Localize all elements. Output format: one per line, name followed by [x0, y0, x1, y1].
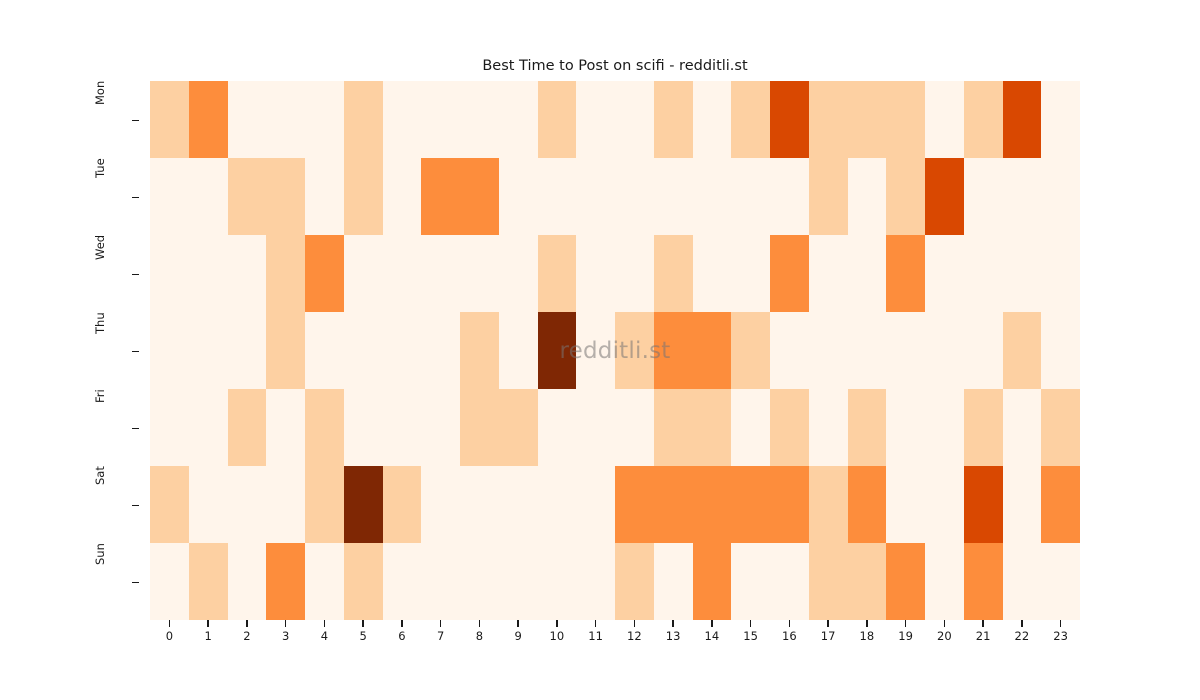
y-tick-mark — [132, 351, 139, 352]
x-tick-label: 2 — [228, 629, 267, 643]
x-tick-mark — [827, 620, 828, 627]
heatmap-cell[interactable] — [925, 389, 964, 466]
heatmap-cell[interactable] — [1003, 158, 1042, 235]
x-tick-label: 1 — [189, 629, 228, 643]
heatmap-cell[interactable] — [770, 543, 809, 620]
x-tick-label: 21 — [964, 629, 1003, 643]
heatmap-cell[interactable] — [964, 389, 1003, 466]
x-tick-mark — [207, 620, 208, 627]
heatmap-cell[interactable] — [228, 158, 267, 235]
heatmap-cell[interactable] — [499, 81, 538, 158]
heatmap-cell[interactable] — [770, 312, 809, 389]
heatmap-cell[interactable] — [1003, 81, 1042, 158]
heatmap-cell[interactable] — [150, 389, 189, 466]
x-tick-label: 6 — [383, 629, 422, 643]
heatmap-cell[interactable] — [731, 543, 770, 620]
heatmap-cell[interactable] — [344, 389, 383, 466]
heatmap-cell[interactable] — [1003, 235, 1042, 312]
heatmap-cell[interactable] — [615, 235, 654, 312]
x-tick-10: 10 — [538, 620, 577, 660]
heatmap-cell[interactable] — [925, 543, 964, 620]
heatmap-cell[interactable] — [383, 389, 422, 466]
heatmap-cell[interactable] — [150, 235, 189, 312]
heatmap-cell[interactable] — [266, 81, 305, 158]
y-tick-label: Sun — [70, 543, 130, 620]
heatmap-cell[interactable] — [266, 389, 305, 466]
heatmap-row — [150, 389, 1080, 466]
x-tick-11: 11 — [576, 620, 615, 660]
x-tick-mark — [866, 620, 867, 627]
heatmap-cell[interactable] — [1041, 235, 1080, 312]
heatmap-cell[interactable] — [344, 235, 383, 312]
heatmap-cell[interactable] — [305, 466, 344, 543]
y-tick-label: Tue — [70, 158, 130, 235]
heatmap-cell[interactable] — [654, 158, 693, 235]
heatmap-cell[interactable] — [1003, 543, 1042, 620]
heatmap-cell[interactable] — [266, 235, 305, 312]
x-tick-mark — [440, 620, 441, 627]
heatmap-cell[interactable] — [848, 543, 887, 620]
x-tick-label: 8 — [460, 629, 499, 643]
y-tick-label: Fri — [70, 389, 130, 466]
heatmap-cell[interactable] — [383, 81, 422, 158]
x-tick-mark — [1060, 620, 1061, 627]
heatmap-cell[interactable] — [189, 389, 228, 466]
x-tick-18: 18 — [848, 620, 887, 660]
heatmap-cell[interactable] — [538, 235, 577, 312]
y-tick-mark — [132, 582, 139, 583]
heatmap-cell[interactable] — [1041, 158, 1080, 235]
heatmap-cell[interactable] — [1003, 389, 1042, 466]
heatmap-cell[interactable] — [1041, 312, 1080, 389]
heatmap-cell[interactable] — [1041, 389, 1080, 466]
heatmap-cell[interactable] — [305, 389, 344, 466]
x-tick-label: 0 — [150, 629, 189, 643]
x-tick-label: 5 — [344, 629, 383, 643]
heatmap-cell[interactable] — [848, 466, 887, 543]
x-tick-mark — [750, 620, 751, 627]
x-tick-label: 18 — [848, 629, 887, 643]
heatmap-cell[interactable] — [266, 466, 305, 543]
heatmap-cell[interactable] — [1003, 466, 1042, 543]
x-tick-8: 8 — [460, 620, 499, 660]
y-tick-mark — [132, 428, 139, 429]
heatmap-cell[interactable] — [848, 81, 887, 158]
heatmap-cell[interactable] — [731, 312, 770, 389]
x-tick-mark — [595, 620, 596, 627]
heatmap-cell[interactable] — [150, 81, 189, 158]
x-tick-1: 1 — [189, 620, 228, 660]
heatmap-cell[interactable] — [615, 81, 654, 158]
heatmap-cell[interactable] — [228, 235, 267, 312]
heatmap-cell[interactable] — [848, 389, 887, 466]
x-tick-mark — [169, 620, 170, 627]
heatmap-cell[interactable] — [421, 81, 460, 158]
heatmap-row — [150, 235, 1080, 312]
heatmap-cell[interactable] — [189, 312, 228, 389]
heatmap-cell[interactable] — [305, 312, 344, 389]
heatmap-cell[interactable] — [770, 158, 809, 235]
heatmap-cell[interactable] — [654, 466, 693, 543]
heatmap-cell[interactable] — [654, 312, 693, 389]
x-tick-label: 9 — [499, 629, 538, 643]
heatmap-cell[interactable] — [383, 158, 422, 235]
heatmap-cell[interactable] — [421, 235, 460, 312]
y-tick-label: Wed — [70, 235, 130, 312]
heatmap-cell[interactable] — [731, 235, 770, 312]
heatmap-cell[interactable] — [576, 389, 615, 466]
heatmap-cell[interactable] — [770, 466, 809, 543]
heatmap-cell[interactable] — [266, 543, 305, 620]
heatmap-cell[interactable] — [770, 81, 809, 158]
heatmap-cell[interactable] — [886, 81, 925, 158]
x-tick-19: 19 — [886, 620, 925, 660]
heatmap-cell[interactable] — [460, 466, 499, 543]
x-tick-label: 15 — [731, 629, 770, 643]
heatmap-cell[interactable] — [538, 389, 577, 466]
x-tick-label: 12 — [615, 629, 654, 643]
heatmap-row — [150, 466, 1080, 543]
heatmap-cell[interactable] — [693, 235, 732, 312]
heatmap-cell[interactable] — [731, 81, 770, 158]
heatmap-cell[interactable] — [228, 466, 267, 543]
heatmap-cell[interactable] — [809, 158, 848, 235]
y-tick-fri: Fri — [0, 389, 150, 466]
heatmap-cell[interactable] — [228, 312, 267, 389]
heatmap-cell[interactable] — [925, 312, 964, 389]
heatmap-cell[interactable] — [150, 158, 189, 235]
heatmap-cell[interactable] — [925, 466, 964, 543]
heatmap-cell[interactable] — [460, 543, 499, 620]
heatmap-cell[interactable] — [964, 312, 1003, 389]
heatmap-row — [150, 312, 1080, 389]
heatmap-cell[interactable] — [576, 235, 615, 312]
heatmap-cell[interactable] — [576, 543, 615, 620]
heatmap-cell[interactable] — [421, 389, 460, 466]
heatmap-cell[interactable] — [383, 235, 422, 312]
x-tick-label: 23 — [1041, 629, 1080, 643]
y-tick-label: Sat — [70, 466, 130, 543]
heatmap-cell[interactable] — [150, 466, 189, 543]
heatmap-cell[interactable] — [266, 158, 305, 235]
heatmap-cell[interactable] — [886, 543, 925, 620]
heatmap-cell[interactable] — [809, 466, 848, 543]
x-tick-mark — [324, 620, 325, 627]
y-tick-thu: Thu — [0, 312, 150, 389]
heatmap-cell[interactable] — [421, 543, 460, 620]
heatmap-cell[interactable] — [770, 389, 809, 466]
x-tick-label: 4 — [305, 629, 344, 643]
x-tick-mark — [634, 620, 635, 627]
heatmap-cell[interactable] — [731, 466, 770, 543]
heatmap-cell[interactable] — [964, 466, 1003, 543]
heatmap-cell[interactable] — [848, 235, 887, 312]
heatmap-cell[interactable] — [964, 158, 1003, 235]
heatmap-cell[interactable] — [770, 235, 809, 312]
heatmap-cell[interactable] — [615, 543, 654, 620]
heatmap-cell[interactable] — [538, 466, 577, 543]
heatmap-cell[interactable] — [693, 81, 732, 158]
heatmap-cell[interactable] — [344, 158, 383, 235]
heatmap-cell[interactable] — [499, 235, 538, 312]
x-tick-9: 9 — [499, 620, 538, 660]
heatmap-cell[interactable] — [305, 543, 344, 620]
heatmap-row — [150, 81, 1080, 158]
y-tick-mon: Mon — [0, 81, 150, 158]
figure-canvas: Best Time to Post on scifi - redditli.st… — [0, 0, 1200, 700]
x-tick-label: 3 — [266, 629, 305, 643]
heatmap-cell[interactable] — [731, 389, 770, 466]
heatmap-row — [150, 158, 1080, 235]
y-tick-mark — [132, 274, 139, 275]
heatmap-cell[interactable] — [886, 466, 925, 543]
y-axis: MonTueWedThuFriSatSun — [0, 81, 150, 620]
heatmap-row — [150, 543, 1080, 620]
x-tick-label: 11 — [576, 629, 615, 643]
y-tick-tue: Tue — [0, 158, 150, 235]
heatmap-cell[interactable] — [615, 158, 654, 235]
heatmap-cell[interactable] — [731, 158, 770, 235]
x-tick-2: 2 — [228, 620, 267, 660]
x-tick-17: 17 — [809, 620, 848, 660]
heatmap-cell[interactable] — [228, 543, 267, 620]
heatmap-cell[interactable] — [499, 312, 538, 389]
y-tick-mark — [132, 120, 139, 121]
x-tick-label: 16 — [770, 629, 809, 643]
heatmap-cell[interactable] — [189, 466, 228, 543]
heatmap-cell[interactable] — [693, 389, 732, 466]
heatmap-cell[interactable] — [344, 81, 383, 158]
y-tick-sun: Sun — [0, 543, 150, 620]
heatmap-cell[interactable] — [809, 235, 848, 312]
y-tick-wed: Wed — [0, 235, 150, 312]
x-tick-label: 17 — [809, 629, 848, 643]
heatmap-cell[interactable] — [809, 81, 848, 158]
x-tick-6: 6 — [383, 620, 422, 660]
heatmap-cell[interactable] — [1041, 81, 1080, 158]
heatmap-cell[interactable] — [228, 389, 267, 466]
heatmap-cell[interactable] — [693, 312, 732, 389]
heatmap-cell[interactable] — [460, 389, 499, 466]
heatmap-cell[interactable] — [693, 543, 732, 620]
y-tick-mark — [132, 505, 139, 506]
x-tick-label: 14 — [693, 629, 732, 643]
x-tick-0: 0 — [150, 620, 189, 660]
heatmap-cell[interactable] — [189, 158, 228, 235]
x-tick-mark — [1021, 620, 1022, 627]
heatmap-cell[interactable] — [925, 158, 964, 235]
x-tick-22: 22 — [1003, 620, 1042, 660]
x-tick-20: 20 — [925, 620, 964, 660]
heatmap-cell[interactable] — [460, 158, 499, 235]
heatmap-cell[interactable] — [538, 158, 577, 235]
heatmap-cell[interactable] — [266, 312, 305, 389]
heatmap-cell[interactable] — [615, 466, 654, 543]
heatmap-cell[interactable] — [693, 158, 732, 235]
x-tick-label: 7 — [421, 629, 460, 643]
heatmap-cell[interactable] — [809, 389, 848, 466]
heatmap-cell[interactable] — [189, 235, 228, 312]
heatmap-cell[interactable] — [925, 81, 964, 158]
heatmap-cell[interactable] — [654, 81, 693, 158]
heatmap-cell[interactable] — [538, 543, 577, 620]
heatmap-cell[interactable] — [421, 312, 460, 389]
heatmap-cell[interactable] — [654, 543, 693, 620]
heatmap-cell[interactable] — [344, 312, 383, 389]
heatmap-cell[interactable] — [499, 389, 538, 466]
x-tick-mark — [362, 620, 363, 627]
heatmap-cell[interactable] — [1041, 543, 1080, 620]
heatmap-cell[interactable] — [964, 81, 1003, 158]
x-tick-mark — [401, 620, 402, 627]
x-tick-mark — [672, 620, 673, 627]
heatmap-cell[interactable] — [615, 389, 654, 466]
heatmap-cell[interactable] — [499, 543, 538, 620]
y-tick-label: Thu — [70, 312, 130, 389]
x-tick-4: 4 — [305, 620, 344, 660]
heatmap-cell[interactable] — [383, 312, 422, 389]
heatmap-cell[interactable] — [886, 235, 925, 312]
heatmap-cell[interactable] — [460, 312, 499, 389]
heatmap-cell[interactable] — [925, 235, 964, 312]
y-tick-label: Mon — [70, 81, 130, 158]
heatmap-cell[interactable] — [305, 158, 344, 235]
x-tick-7: 7 — [421, 620, 460, 660]
x-tick-15: 15 — [731, 620, 770, 660]
heatmap-cell[interactable] — [576, 81, 615, 158]
x-tick-13: 13 — [654, 620, 693, 660]
x-tick-mark — [246, 620, 247, 627]
heatmap-cell[interactable] — [693, 466, 732, 543]
heatmap-cell[interactable] — [421, 466, 460, 543]
heatmap-cell[interactable] — [654, 389, 693, 466]
heatmap-cell[interactable] — [576, 466, 615, 543]
heatmap-cell[interactable] — [150, 543, 189, 620]
x-tick-12: 12 — [615, 620, 654, 660]
heatmap-cell[interactable] — [809, 312, 848, 389]
x-tick-16: 16 — [770, 620, 809, 660]
heatmap-cell[interactable] — [886, 312, 925, 389]
heatmap-cell[interactable] — [305, 235, 344, 312]
heatmap-cell[interactable] — [383, 466, 422, 543]
heatmap-cell[interactable] — [228, 81, 267, 158]
heatmap-cell[interactable] — [344, 466, 383, 543]
heatmap-cell[interactable] — [576, 312, 615, 389]
heatmap-cell[interactable] — [809, 543, 848, 620]
heatmap-cell[interactable] — [964, 235, 1003, 312]
heatmap-cell[interactable] — [538, 81, 577, 158]
heatmap-cell[interactable] — [150, 312, 189, 389]
heatmap-cell[interactable] — [383, 543, 422, 620]
x-tick-mark — [944, 620, 945, 627]
x-tick-mark — [711, 620, 712, 627]
x-tick-mark — [517, 620, 518, 627]
x-axis: 01234567891011121314151617181920212223 — [150, 620, 1080, 660]
x-tick-3: 3 — [266, 620, 305, 660]
heatmap-cell[interactable] — [499, 158, 538, 235]
x-tick-21: 21 — [964, 620, 1003, 660]
heatmap-cell[interactable] — [460, 235, 499, 312]
heatmap-cell[interactable] — [1041, 466, 1080, 543]
heatmap-cell[interactable] — [305, 81, 344, 158]
x-tick-14: 14 — [693, 620, 732, 660]
heatmap-cell[interactable] — [538, 312, 577, 389]
heatmap-cell[interactable] — [189, 543, 228, 620]
x-tick-23: 23 — [1041, 620, 1080, 660]
x-tick-label: 22 — [1003, 629, 1042, 643]
y-tick-sat: Sat — [0, 466, 150, 543]
heatmap-cell[interactable] — [848, 158, 887, 235]
heatmap-cell[interactable] — [1003, 312, 1042, 389]
x-tick-label: 19 — [886, 629, 925, 643]
x-tick-mark — [479, 620, 480, 627]
heatmap-cell[interactable] — [576, 158, 615, 235]
x-tick-label: 20 — [925, 629, 964, 643]
x-tick-label: 13 — [654, 629, 693, 643]
heatmap-cell[interactable] — [189, 81, 228, 158]
heatmap-cell[interactable] — [654, 235, 693, 312]
x-tick-mark — [789, 620, 790, 627]
x-tick-mark — [982, 620, 983, 627]
heatmap-cell[interactable] — [964, 543, 1003, 620]
y-tick-mark — [132, 197, 139, 198]
chart-title: Best Time to Post on scifi - redditli.st — [150, 58, 1080, 74]
heatmap-cell[interactable] — [886, 158, 925, 235]
x-tick-label: 10 — [538, 629, 577, 643]
heatmap-cell[interactable] — [615, 312, 654, 389]
heatmap-cell[interactable] — [886, 389, 925, 466]
heatmap-cell[interactable] — [460, 81, 499, 158]
heatmap-cell[interactable] — [344, 543, 383, 620]
heatmap-cell[interactable] — [421, 158, 460, 235]
x-tick-5: 5 — [344, 620, 383, 660]
heatmap-cell[interactable] — [848, 312, 887, 389]
x-tick-mark — [905, 620, 906, 627]
heatmap-cell[interactable] — [499, 466, 538, 543]
x-tick-mark — [285, 620, 286, 627]
x-tick-mark — [556, 620, 557, 627]
heatmap-plot-area[interactable] — [150, 81, 1080, 620]
